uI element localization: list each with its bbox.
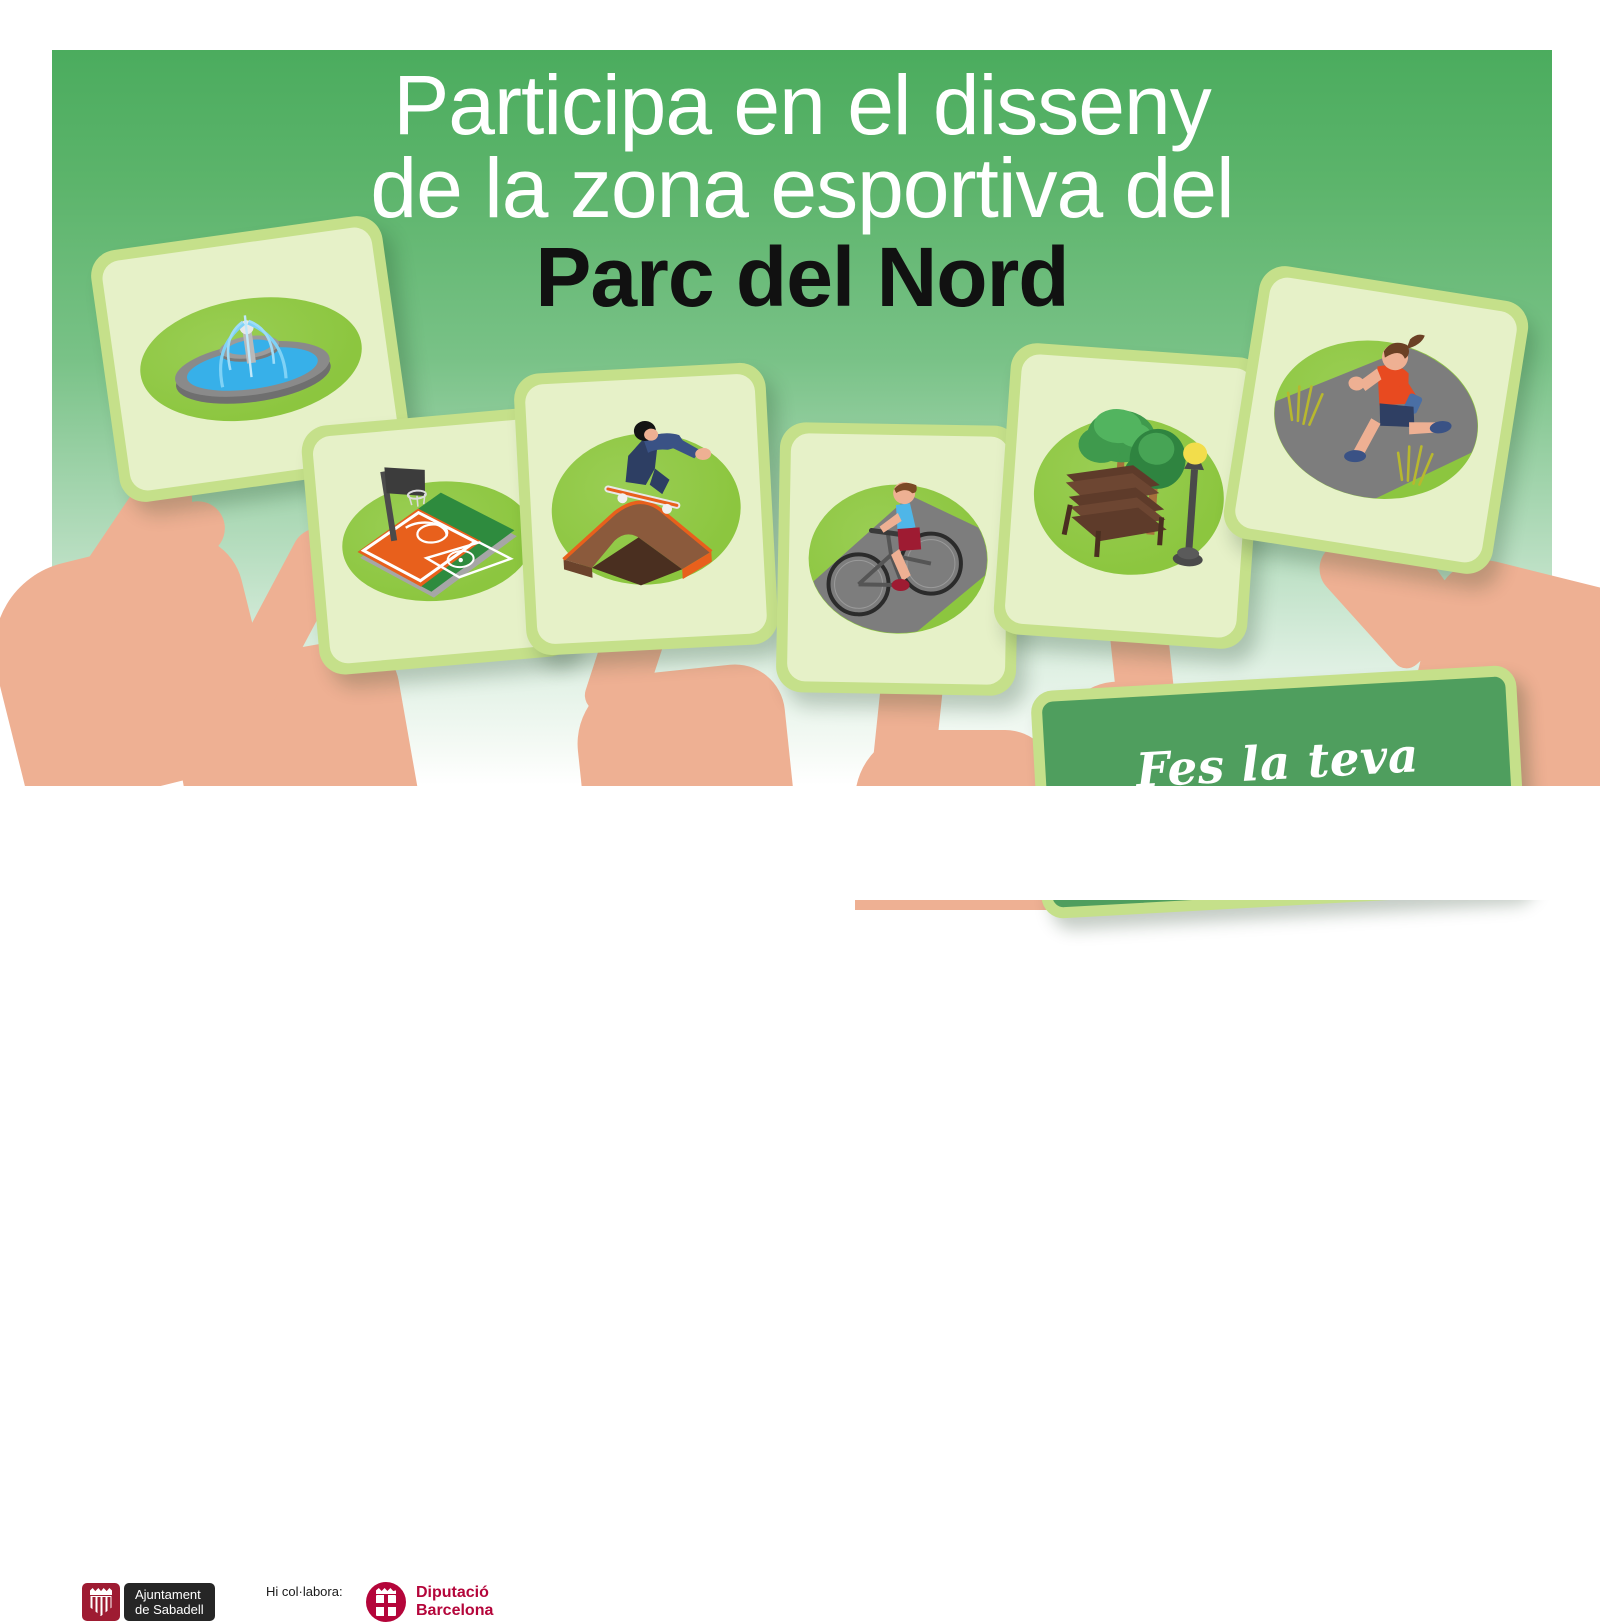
diba-line-1: Diputació [416,1584,493,1602]
headline-line-2: de la zona esportiva del [52,147,1552,230]
skateboard-ramp-icon [524,373,767,645]
sabadell-wordmark: Ajuntament de Sabadell [124,1583,215,1621]
sabadell-crest-icon [82,1583,120,1621]
card-face [1004,353,1254,639]
runner-icon [1233,275,1520,565]
ajuntament-sabadell-logo[interactable]: Ajuntament de Sabadell [82,1583,215,1621]
card-face [1233,275,1520,565]
diba-line-2: Barcelona [416,1602,493,1620]
card-face [787,433,1009,685]
sabadell-line-1: Ajuntament [135,1587,204,1602]
park-bench-icon [1004,353,1254,639]
diputacio-wordmark: Diputació Barcelona [416,1584,493,1620]
sabadell-line-2: de Sabadell [135,1602,204,1617]
headline-line-1: Participa en el disseny [52,64,1552,147]
diputacio-barcelona-crest-icon [366,1582,406,1622]
collaborator-label: Hi col·labora: [266,1584,343,1599]
bike-path-card[interactable] [776,422,1021,696]
cyclist-icon [787,433,1009,685]
diputacio-barcelona-logo[interactable]: Diputació Barcelona [366,1580,493,1624]
poster-canvas: Participa en el disseny de la zona espor… [0,0,1600,900]
running-path-card[interactable] [1220,262,1532,577]
card-face [524,373,767,645]
skate-ramp-card[interactable] [513,362,779,657]
footer-logos: Ajuntament de Sabadell Hi col·labora: Di… [0,786,1600,900]
bench-greenery-card[interactable] [992,341,1266,650]
